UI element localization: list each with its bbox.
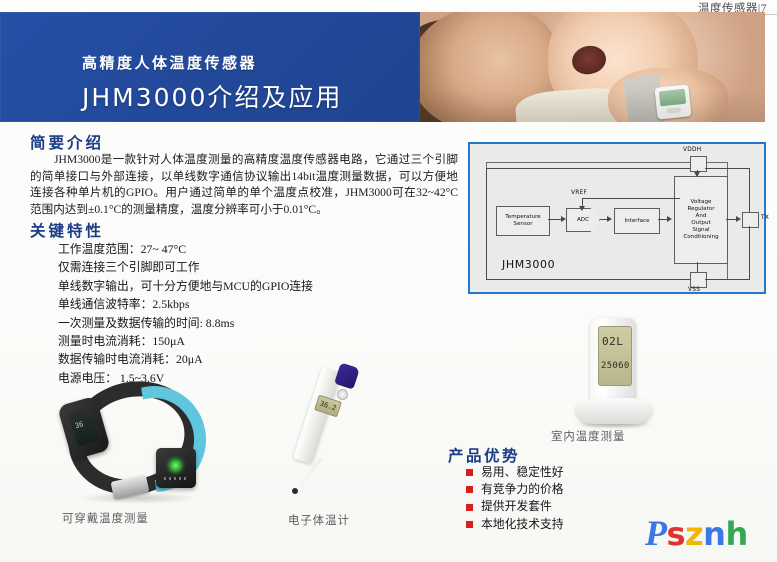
arrow-interface-to-vro: [667, 216, 672, 222]
logo-char-3: n: [703, 515, 725, 553]
arrow-vro-to-tx: [736, 216, 741, 222]
logo-char-0: P: [645, 513, 667, 553]
vro-line5: Signal: [692, 227, 709, 233]
band-sensor-module: [156, 448, 196, 488]
block-interface-label: Interface: [624, 218, 649, 225]
wire-vddh-rail-right: [705, 168, 750, 169]
thermometer-power-button: [336, 388, 350, 402]
vro-line1: Voltage: [691, 199, 712, 205]
advantage-item: 有竞争力的价格: [466, 481, 564, 498]
block-diagram: JHM3000 VDDH VSS TX VREF Temperature Sen…: [468, 142, 766, 294]
block-interface: Interface: [614, 208, 660, 234]
wire-sensor-to-adc: [548, 219, 562, 220]
banner-subtitle: 高精度人体温度传感器: [82, 52, 342, 73]
wire-vss-rail-right: [705, 279, 750, 280]
title-banner: 高精度人体温度传感器 JHM3000介绍及应用: [0, 12, 420, 122]
block-temperature-sensor: Temperature Sensor: [496, 206, 550, 236]
pin-vddh: [690, 156, 707, 172]
desk-screen-secondary-value: 25060: [601, 361, 629, 371]
wire-vss-rail-up: [749, 226, 750, 279]
logo-char-1: s: [667, 515, 686, 553]
thermometer-probe-tip: [292, 488, 298, 494]
block-temperature-sensor-label: Temperature Sensor: [505, 214, 540, 228]
tsensor-line1: Temperature: [505, 214, 540, 220]
led-indicator-icon: [169, 459, 182, 472]
block-vro-label: Voltage Regulator And Output Signal Cond…: [683, 199, 718, 241]
signal-vref-label: VREF: [571, 190, 587, 196]
wire-vss-rail-left: [486, 279, 690, 280]
advantages-list: 易用、稳定性好 有竞争力的价格 提供开发套件 本地化技术支持: [466, 464, 564, 533]
banner-text-group: 高精度人体温度传感器 JHM3000介绍及应用: [82, 52, 342, 114]
caption-desk-thermometer: 室内温度测量: [551, 428, 625, 444]
intro-body: JHM3000是一款针对人体温度测量的高精度温度传感器电路，它通过三个引脚的简单…: [30, 152, 458, 218]
bullet-square-icon: [466, 486, 473, 493]
caption-wearable: 可穿戴温度测量: [62, 510, 149, 526]
advantage-label: 有竞争力的价格: [481, 481, 564, 498]
hero-vignette: [420, 12, 765, 122]
arrow-sensor-to-adc: [561, 216, 566, 222]
logo-char-4: h: [725, 515, 747, 553]
desk-screen-primary-value: 02L: [602, 335, 628, 348]
vro-line6: Conditioning: [683, 234, 718, 240]
intro-heading: 简要介绍: [30, 131, 104, 153]
wire-left-rail: [486, 168, 487, 279]
block-adc-label: ADC: [577, 217, 589, 224]
feature-item: 单线通信波特率：2.5kbps: [58, 295, 388, 313]
vro-line3: And: [696, 213, 707, 219]
vro-line2: Regulator: [687, 206, 714, 212]
advantage-label: 提供开发套件: [481, 498, 552, 515]
module-contacts: [164, 477, 188, 480]
features-heading: 关键特性: [30, 219, 104, 241]
pin-tx-label: TX: [761, 215, 769, 221]
caption-stick-thermometer: 电子体温计: [288, 512, 350, 528]
advantages-heading: 产品优势: [448, 444, 520, 466]
feature-item: 工作温度范围：27~ 47°C: [58, 240, 388, 258]
feature-item: 测量时电流消耗：150μA: [58, 332, 388, 350]
block-adc: ADC: [566, 208, 600, 232]
feature-item: 一次测量及数据传输的时间: 8.8ms: [58, 314, 388, 332]
desk-thermometer-screen: 02L 25060: [598, 326, 632, 386]
photo-stick-thermometer: 36.2: [292, 362, 376, 512]
arrow-adc-to-interface: [607, 216, 612, 222]
diagram-canvas: JHM3000 VDDH VSS TX VREF Temperature Sen…: [472, 146, 762, 290]
advantage-item: 提供开发套件: [466, 498, 564, 515]
wire-vddh-rail-left: [486, 168, 690, 169]
pin-vddh-label: VDDH: [683, 147, 701, 153]
wire-vddh-rail-down: [749, 168, 750, 212]
pin-vss-label: VSS: [688, 287, 700, 293]
bullet-square-icon: [466, 469, 473, 476]
logo-char-2: z: [685, 515, 703, 553]
band-screen: [68, 408, 99, 447]
advantage-item: 易用、稳定性好: [466, 464, 564, 481]
photo-wearable-band: [60, 372, 220, 510]
advantage-label: 本地化技术支持: [481, 516, 564, 533]
arrow-vddh-to-vro: [694, 172, 700, 177]
advantage-item: 本地化技术支持: [466, 516, 564, 533]
pin-vss: [690, 272, 707, 288]
hero-photo: [420, 12, 765, 122]
pin-tx: [742, 212, 759, 228]
arrow-vref-to-adc: [579, 206, 585, 211]
page-root: 温度传感器|7 高精度人体温度传感器 JHM3000介绍及应用 简要介绍 JHM…: [0, 0, 777, 562]
feature-item: 单线数字输出，可十分方便地与MCU的GPIO连接: [58, 277, 388, 295]
advantage-label: 易用、稳定性好: [481, 464, 564, 481]
thermometer-cap: [334, 362, 360, 389]
wire-vref-horizontal: [582, 198, 680, 199]
block-voltage-regulator-output-conditioning: Voltage Regulator And Output Signal Cond…: [674, 176, 728, 264]
bullet-square-icon: [466, 504, 473, 511]
banner-title: JHM3000介绍及应用: [82, 78, 342, 114]
vro-line4: Output: [691, 220, 710, 226]
brand-logo: Psznh: [645, 512, 748, 554]
feature-item: 仅需连接三个引脚即可工作: [58, 258, 388, 276]
wire-vro-to-vss: [697, 262, 698, 272]
tsensor-line2: Sensor: [513, 221, 532, 227]
bullet-square-icon: [466, 521, 473, 528]
desk-thermometer-base: [576, 398, 652, 424]
diagram-chip-label: JHM3000: [502, 258, 555, 271]
photo-desk-thermometer: 02L 25060: [566, 318, 666, 430]
